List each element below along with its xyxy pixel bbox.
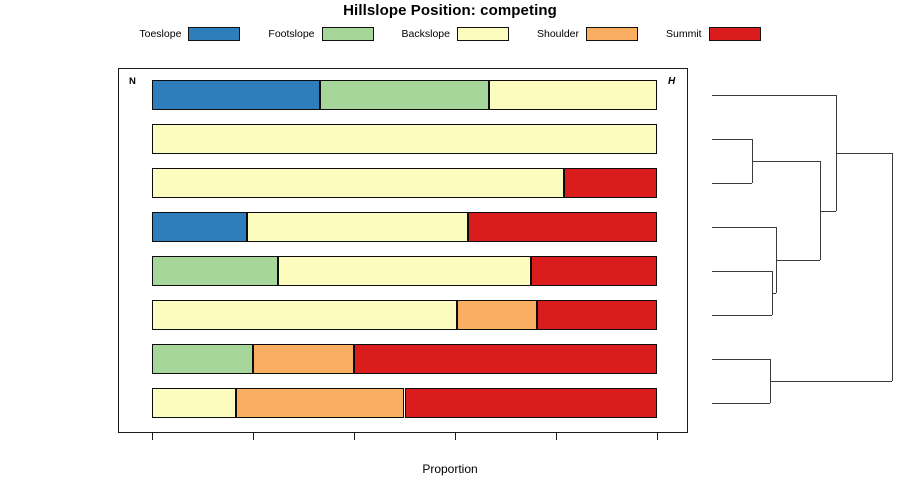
x-tick [556,433,557,440]
dendro-branch [712,359,770,360]
dendro-branch [770,381,892,382]
legend-swatch-summit [709,27,761,41]
legend-item-shoulder: Shoulder [537,27,638,41]
legend-item-summit: Summit [666,27,761,41]
bar-segment-summit [564,168,657,198]
legend-item-label: Shoulder [537,28,579,40]
legend-item-label: Summit [666,28,702,40]
x-tick [354,433,355,440]
dendro-branch [836,153,892,154]
bar-segment-footslope [152,344,253,374]
x-tick [152,433,153,440]
bar-segment-backslope [152,388,236,418]
bar-segment-backslope [489,80,657,110]
bar-segment-summit [405,388,658,418]
dendro-branch [892,153,893,381]
legend-item-footslope: Footslope [268,27,373,41]
bar-segment-footslope [320,80,489,110]
dendrogram [700,60,900,430]
bar-segment-toeslope [152,212,247,242]
bar-segment-shoulder [253,344,354,374]
dendro-branch [820,211,836,212]
dendro-branch [712,183,752,184]
legend-item-toeslope: Toeslope [139,27,240,41]
legend-swatch-footslope [322,27,374,41]
dendro-branch [712,403,770,404]
x-tick [253,433,254,440]
stacked-bar-aptos [152,300,657,330]
bar-segment-shoulder [457,300,537,330]
plot-panel [118,68,688,433]
bar-segment-backslope [152,124,657,154]
bar-segment-footslope [152,256,278,286]
page-title: Hillslope Position: competing [0,2,900,19]
stacked-bar-mouser [152,168,657,198]
legend-item-backslope: Backslope [402,27,509,41]
bar-segment-summit [354,344,657,374]
legend-swatch-backslope [457,27,509,41]
legend-item-label: Backslope [402,28,450,40]
n-column-header: N [129,76,136,87]
stacked-bar-buckeye [152,256,657,286]
dendro-branch [712,227,776,228]
bar-segment-toeslope [152,80,320,110]
bar-segment-backslope [152,168,564,198]
bar-segment-shoulder [236,388,404,418]
legend: ToeslopeFootslopeBackslopeShoulderSummit [0,24,900,44]
plot-canvas: Hillslope Position: competing ToeslopeFo… [0,0,900,500]
stacked-bar-nisene [152,124,657,154]
legend-item-label: Toeslope [139,28,181,40]
bar-segment-backslope [247,212,468,242]
bar-segment-backslope [278,256,531,286]
bar-segment-summit [537,300,657,330]
dendro-branch [712,139,752,140]
x-axis-label: Proportion [0,462,900,476]
stacked-bar-yaxing [152,80,657,110]
stacked-bar-paragon [152,388,657,418]
h-column-header: H [668,76,675,87]
bar-segment-backslope [152,300,457,330]
legend-swatch-shoulder [586,27,638,41]
x-tick [455,433,456,440]
dendro-branch [712,271,772,272]
bar-segment-summit [468,212,657,242]
x-tick [657,433,658,440]
stacked-bar-elmore [152,212,657,242]
dendro-branch [776,260,820,261]
dendro-branch [752,161,820,162]
stacked-bar-campfour [152,344,657,374]
dendro-branch [712,95,836,96]
legend-swatch-toeslope [188,27,240,41]
legend-item-label: Footslope [268,28,314,40]
dendro-branch [712,315,772,316]
dendro-branch [772,293,776,294]
bar-segment-summit [531,256,657,286]
